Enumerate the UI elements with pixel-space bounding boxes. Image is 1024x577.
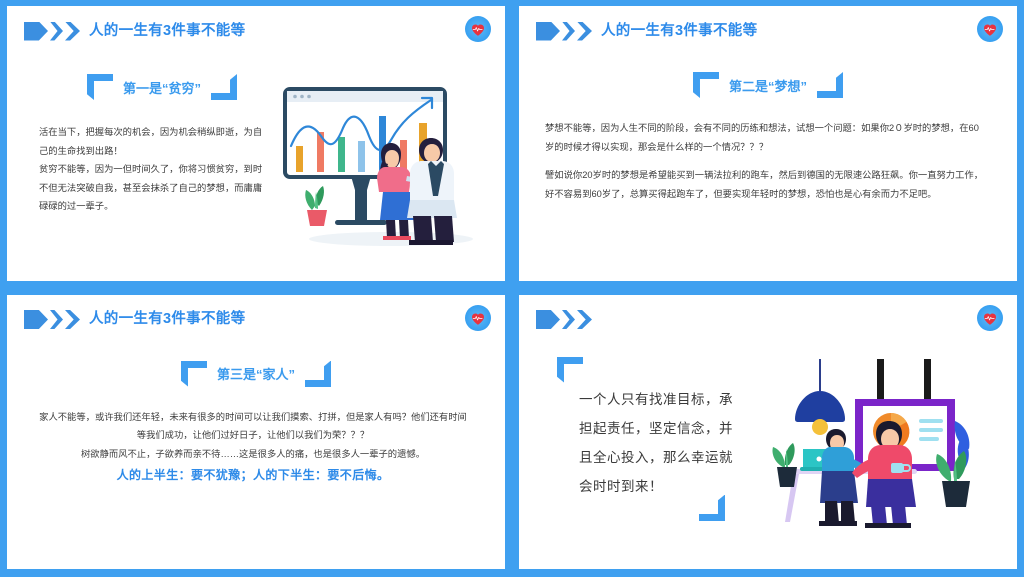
slide-2-section-title-block: 第二是“梦想”: [519, 72, 1017, 98]
slide-1-paragraph-1: 活在当下，把握每次的机会，因为机会稍纵即逝，为自己的生命找到出路！: [39, 123, 269, 160]
chevron-right-icon: [50, 310, 63, 329]
heartbeat-logo-icon: [465, 16, 491, 42]
slide-3-body: 家人不能等，或许我们还年轻，未来有很多的时间可以让我们摸索、打拼，但是家人有吗？…: [37, 408, 469, 488]
slide-3-header: 人的一生有3件事不能等: [24, 307, 245, 333]
slide-4-quote: 一个人只有找准目标，承担起责任，坚定信念，并且全心投入，那么幸运就会时时到来！: [579, 385, 745, 501]
bracket-top-left-icon: [557, 357, 583, 383]
slide-3-paragraph-2: 树欲静而风不止，子欲养而亲不待……这是很多人的痛，也是很多人一辈子的遗憾。: [37, 445, 469, 464]
heartbeat-logo-icon: [977, 16, 1003, 42]
slide-3-section-title: 第三是“家人”: [213, 364, 299, 383]
arrow-solid-icon: [536, 310, 560, 329]
office-whiteboard-illustration: [767, 359, 992, 534]
slide-1-section-title-block: 第一是“贫穷”: [87, 74, 237, 100]
slide-2[interactable]: 人的一生有3件事不能等 第二是“梦想” 梦想不能等，因为人生不同的阶段，会有不同…: [512, 0, 1024, 289]
slide-2-section-title: 第二是“梦想”: [725, 76, 811, 95]
slide-4-header: [536, 307, 601, 333]
slide-2-canvas: 人的一生有3件事不能等 第二是“梦想” 梦想不能等，因为人生不同的阶段，会有不同…: [519, 6, 1017, 281]
chevron-right-icon: [562, 310, 575, 329]
arrow-solid-icon: [536, 22, 560, 41]
slide-4[interactable]: 一个人只有找准目标，承担起责任，坚定信念，并且全心投入，那么幸运就会时时到来！: [512, 289, 1024, 577]
bracket-top-left-icon: [87, 74, 113, 100]
slide-3-section-title-block: 第三是“家人”: [7, 361, 505, 387]
slide-3-paragraph-1: 家人不能等，或许我们还年轻，未来有很多的时间可以让我们摸索、打拼，但是家人有吗？…: [37, 408, 469, 445]
slide-deck: 人的一生有3件事不能等 第一是“贫穷” 活在当下，把握每次的机会，因为机会稍纵即…: [0, 0, 1024, 577]
slide-4-canvas: 一个人只有找准目标，承担起责任，坚定信念，并且全心投入，那么幸运就会时时到来！: [519, 295, 1017, 570]
chevron-right-icon: [50, 22, 63, 41]
bracket-top-left-icon: [181, 361, 207, 387]
slide-3-canvas: 人的一生有3件事不能等 第三是“家人” 家人不能等，或许我们还年轻，未来有很多的…: [7, 295, 505, 570]
slide-1-header: 人的一生有3件事不能等: [24, 18, 245, 44]
slide-3-header-title: 人的一生有3件事不能等: [89, 312, 245, 327]
presentation-chart-illustration: [279, 84, 484, 249]
slide-1-header-title: 人的一生有3件事不能等: [89, 24, 245, 39]
slide-1-paragraph-2: 贫穷不能等，因为一但时间久了，你将习惯贫穷，到时不但无法突破自我，甚至会抹杀了自…: [39, 160, 269, 216]
bracket-bottom-right-icon: [817, 72, 843, 98]
bracket-bottom-right-icon: [305, 361, 331, 387]
slide-1-body: 活在当下，把握每次的机会，因为机会稍纵即逝，为自己的生命找到出路！ 贫穷不能等，…: [39, 123, 269, 216]
double-arrow-icon: [24, 22, 80, 41]
slide-1-section-title: 第一是“贫穷”: [119, 78, 205, 97]
chevron-right-icon: [562, 22, 575, 41]
slide-2-header-title: 人的一生有3件事不能等: [601, 24, 757, 39]
slide-1-canvas: 人的一生有3件事不能等 第一是“贫穷” 活在当下，把握每次的机会，因为机会稍纵即…: [7, 6, 505, 281]
arrow-solid-icon: [24, 22, 48, 41]
slide-2-paragraph-2: 譬如说你20岁时的梦想是希望能买到一辆法拉利的跑车，然后到德国的无限速公路狂飙。…: [545, 166, 983, 203]
slide-2-paragraph-1: 梦想不能等，因为人生不同的阶段，会有不同的历练和想法，试想一个问题：如果你2０岁…: [545, 119, 983, 156]
double-arrow-icon: [24, 310, 80, 329]
double-arrow-icon: [536, 310, 592, 329]
slide-2-header: 人的一生有3件事不能等: [536, 18, 757, 44]
slide-1[interactable]: 人的一生有3件事不能等 第一是“贫穷” 活在当下，把握每次的机会，因为机会稍纵即…: [0, 0, 512, 289]
chevron-right-icon: [577, 310, 592, 329]
chevron-right-icon: [65, 310, 80, 329]
bracket-bottom-right-icon: [211, 74, 237, 100]
bracket-top-left-icon: [693, 72, 719, 98]
slide-3-highlight: 人的上半生：要不犹豫；人的下半生：要不后悔。: [37, 463, 469, 487]
chevron-right-icon: [577, 22, 592, 41]
heartbeat-logo-icon: [465, 305, 491, 331]
chevron-right-icon: [65, 22, 80, 41]
double-arrow-icon: [536, 22, 592, 41]
slide-2-body: 梦想不能等，因为人生不同的阶段，会有不同的历练和想法，试想一个问题：如果你2０岁…: [545, 119, 983, 203]
slide-3[interactable]: 人的一生有3件事不能等 第三是“家人” 家人不能等，或许我们还年轻，未来有很多的…: [0, 289, 512, 577]
arrow-solid-icon: [24, 310, 48, 329]
heartbeat-logo-icon: [977, 305, 1003, 331]
